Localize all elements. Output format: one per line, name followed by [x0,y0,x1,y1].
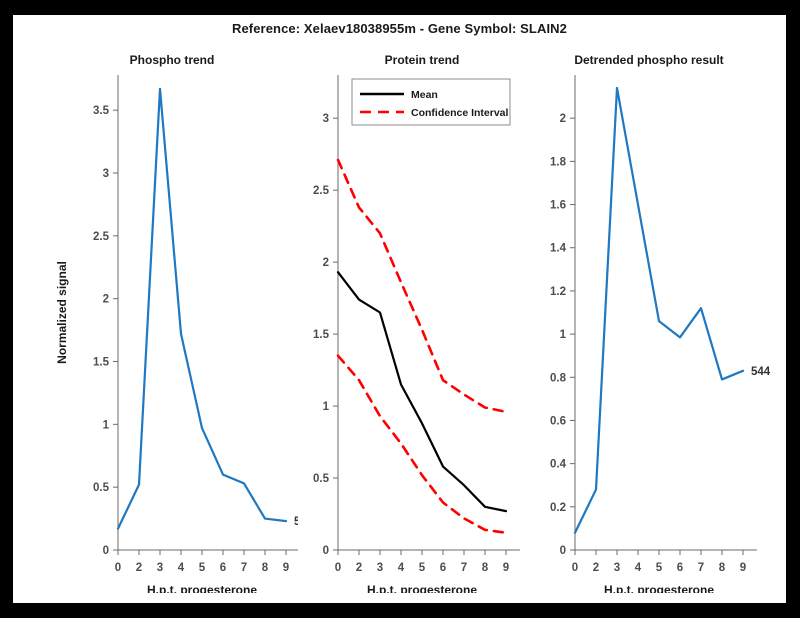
x-tick-label: 8 [482,562,489,574]
y-tick-label: 1 [103,419,110,431]
y-tick-label: 0.6 [550,415,566,427]
y-axis-title: Normalized signal [55,261,69,364]
x-tick-label: 5 [199,562,206,574]
y-tick-label: 1.4 [550,243,567,255]
x-tick-label: 2 [593,562,599,574]
x-tick-label: 0 [572,562,578,574]
x-tick-label: 3 [157,562,163,574]
x-tick-label: 6 [677,562,683,574]
y-tick-label: 2.5 [313,185,330,197]
y-tick-label: 0.8 [550,372,567,384]
x-tick-label: 7 [698,562,704,574]
series-line-confidence-interval-lower [338,356,506,533]
chart-phospho-trend: 00.511.522.533.5023456789H.p.t. progeste… [46,45,298,593]
y-tick-label: 1.5 [93,357,110,369]
legend: MeanConfidence Interval [352,79,510,125]
x-tick-label: 8 [262,562,269,574]
chart-protein-trend: 00.511.522.53023456789H.p.t. progesteron… [296,45,548,593]
y-tick-label: 2 [103,294,109,306]
x-tick-label: 8 [719,562,726,574]
x-tick-label: 9 [503,562,509,574]
y-tick-label: 3 [323,113,329,125]
y-tick-label: 1.6 [550,200,566,212]
x-tick-label: 2 [356,562,362,574]
x-tick-label: 7 [461,562,467,574]
legend-label-confidence-interval: Confidence Interval [411,107,509,119]
y-tick-label: 0.2 [550,502,566,514]
x-tick-label: 0 [335,562,341,574]
figure-frame: Reference: Xelaev18038955m - Gene Symbol… [13,15,786,603]
y-tick-label: 0 [560,545,566,557]
y-tick-label: 2 [323,257,329,269]
series-line-confidence-interval-upper [338,160,506,412]
y-tick-label: 1.5 [313,329,330,341]
x-tick-label: 9 [283,562,289,574]
panel-phospho-trend: Phospho trend 00.511.522.533.5023456789H… [46,45,298,593]
x-tick-label: 5 [656,562,663,574]
x-tick-label: 4 [178,562,185,574]
series-annotation-label: 544 [751,366,771,378]
series-line-phospho-signal [118,89,286,529]
x-tick-label: 9 [740,562,746,574]
y-tick-label: 1.2 [550,286,566,298]
x-tick-label: 3 [377,562,383,574]
y-tick-label: 1.8 [550,156,567,168]
series-line-detrended-phospho [575,88,743,533]
figure-title: Reference: Xelaev18038955m - Gene Symbol… [13,21,786,36]
x-tick-label: 6 [440,562,446,574]
x-tick-label: 0 [115,562,121,574]
x-axis-title: H.p.t. progesterone [147,583,257,593]
x-axis-title: H.p.t. progesterone [604,583,714,593]
x-tick-label: 4 [398,562,405,574]
y-tick-label: 0.5 [93,482,110,494]
y-tick-label: 1 [560,329,567,341]
y-tick-label: 0 [103,545,109,557]
y-tick-label: 3 [103,168,109,180]
y-tick-label: 2.5 [93,231,110,243]
y-tick-label: 1 [323,401,330,413]
y-tick-label: 2 [560,113,566,125]
x-tick-label: 2 [136,562,142,574]
panel-detrended-phospho: Detrended phospho result 00.20.40.60.811… [523,45,775,593]
y-tick-label: 0.5 [313,473,330,485]
y-tick-label: 3.5 [93,105,110,117]
x-axis-title: H.p.t. progesterone [367,583,477,593]
x-tick-label: 6 [220,562,226,574]
y-tick-label: 0.4 [550,459,567,471]
x-tick-label: 3 [614,562,620,574]
y-tick-label: 0 [323,545,329,557]
legend-label-mean: Mean [411,89,438,101]
x-tick-label: 5 [419,562,426,574]
chart-detrended-phospho: 00.20.40.60.811.21.41.61.82023456789H.p.… [523,45,775,593]
x-tick-label: 4 [635,562,642,574]
panel-protein-trend: Protein trend 00.511.522.53023456789H.p.… [296,45,548,593]
x-tick-label: 7 [241,562,247,574]
